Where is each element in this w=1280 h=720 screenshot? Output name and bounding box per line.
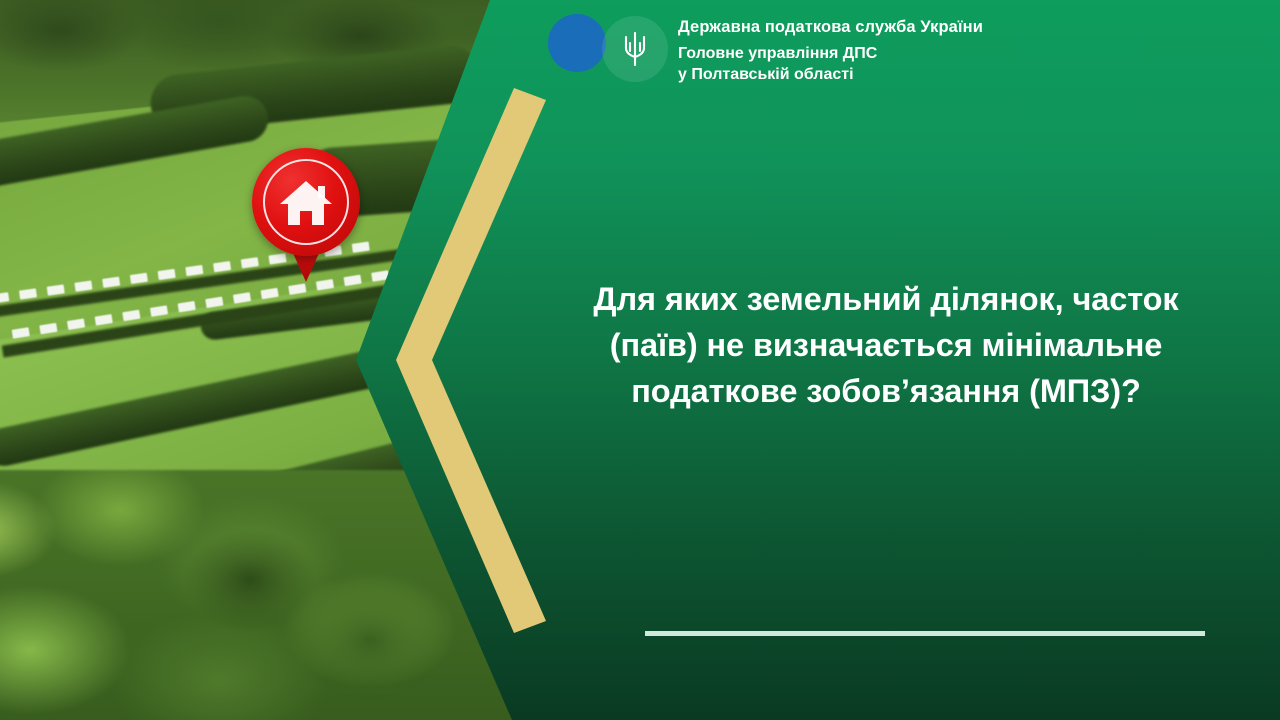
page-title-line-1: Для яких земельний ділянок, часток bbox=[536, 276, 1236, 322]
ukraine-trident-icon bbox=[602, 16, 668, 82]
house-icon bbox=[278, 178, 334, 228]
page-title-line-2: (паїв) не визначається мінімальне bbox=[536, 322, 1236, 368]
page-title: Для яких земельний ділянок, часток (паїв… bbox=[536, 276, 1236, 414]
brand-department-line1: Головне управління ДПС bbox=[678, 43, 983, 64]
divider bbox=[645, 631, 1205, 636]
brand-text-block: Державна податкова служба України Головн… bbox=[678, 14, 983, 85]
chevron-left-icon bbox=[396, 88, 546, 633]
map-pin-house-icon bbox=[252, 148, 360, 288]
brand-department-line2: у Полтавській області bbox=[678, 64, 983, 85]
brand-department-block: Головне управління ДПС у Полтавській обл… bbox=[678, 43, 983, 85]
brand-lockup: Державна податкова служба України Головн… bbox=[548, 14, 983, 85]
page-title-line-3: податкове зобов’язання (МПЗ)? bbox=[536, 368, 1236, 414]
slide-canvas: Державна податкова служба України Головн… bbox=[0, 0, 1280, 720]
brand-org-name: Державна податкова служба України bbox=[678, 16, 983, 38]
trident-glyph bbox=[622, 32, 648, 66]
brand-blue-circle-icon bbox=[548, 14, 606, 72]
